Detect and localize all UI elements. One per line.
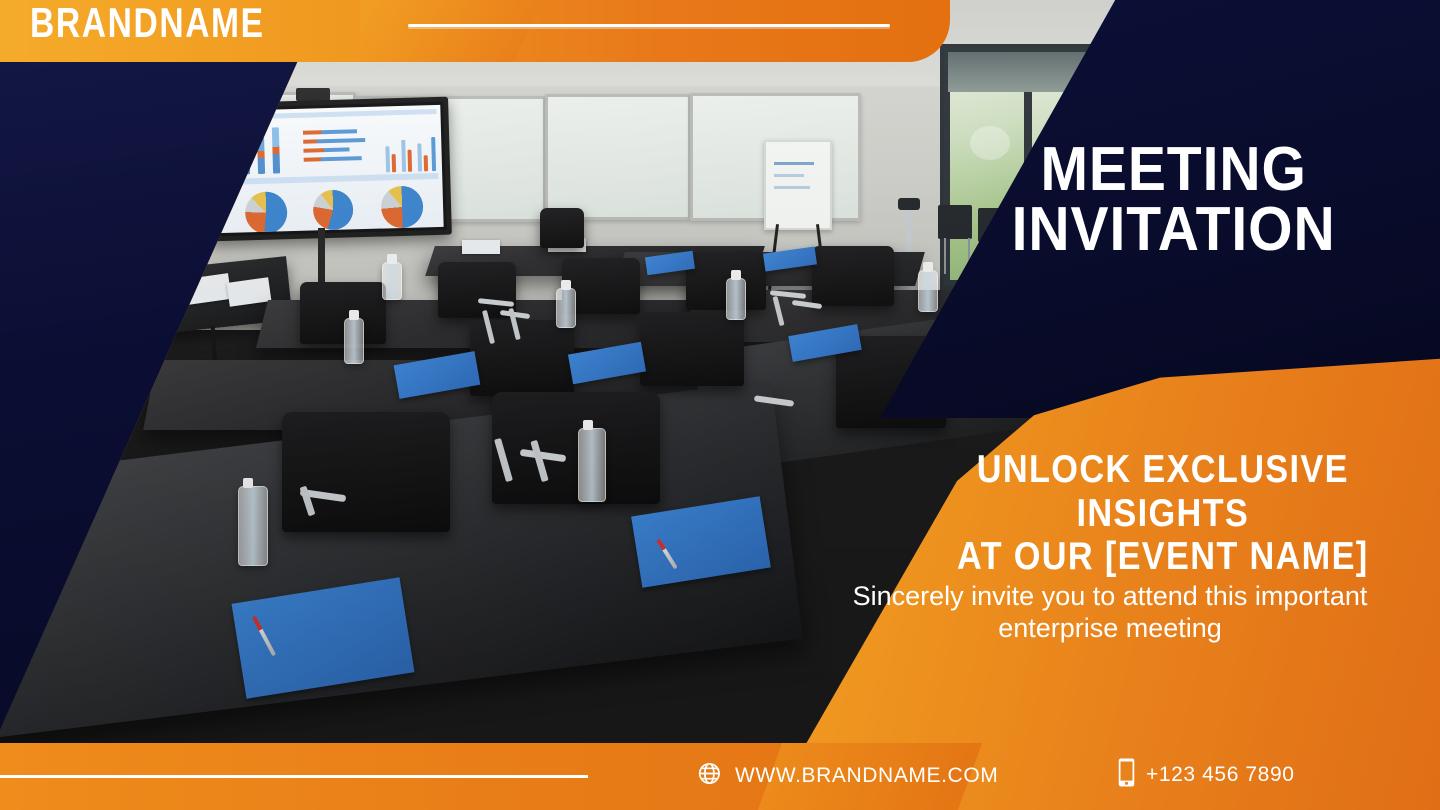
- phone-contact[interactable]: +123 456 7890: [1118, 758, 1295, 792]
- brand-bar: BRANDNAME: [0, 0, 950, 62]
- page-title: MEETING INVITATION: [925, 140, 1422, 259]
- phone-label: +123 456 7890: [1146, 763, 1295, 787]
- mobile-phone-icon: [1118, 758, 1135, 792]
- invitation-poster: MEETING INVITATION UNLOCK EXCLUSIVE INSI…: [0, 0, 1440, 810]
- headline-line-1: UNLOCK EXCLUSIVE INSIGHTS: [908, 448, 1418, 535]
- website-label: WWW.BRANDNAME.COM: [735, 764, 998, 788]
- subtext-line-2: enterprise meeting: [800, 612, 1420, 644]
- subtext-line-1: Sincerely invite you to attend this impo…: [800, 580, 1420, 612]
- website-contact[interactable]: WWW.BRANDNAME.COM: [697, 760, 998, 792]
- header-rule: [408, 24, 890, 27]
- headline-line-2: AT OUR [EVENT NAME]: [908, 535, 1418, 579]
- title-line-2: INVITATION: [925, 200, 1422, 260]
- globe-icon: [697, 760, 724, 792]
- headline: UNLOCK EXCLUSIVE INSIGHTS AT OUR [EVENT …: [908, 448, 1418, 579]
- footer-rule: [0, 775, 588, 778]
- brand-name: BRANDNAME: [30, 0, 265, 47]
- title-line-1: MEETING: [925, 140, 1422, 200]
- subtext: Sincerely invite you to attend this impo…: [800, 580, 1420, 645]
